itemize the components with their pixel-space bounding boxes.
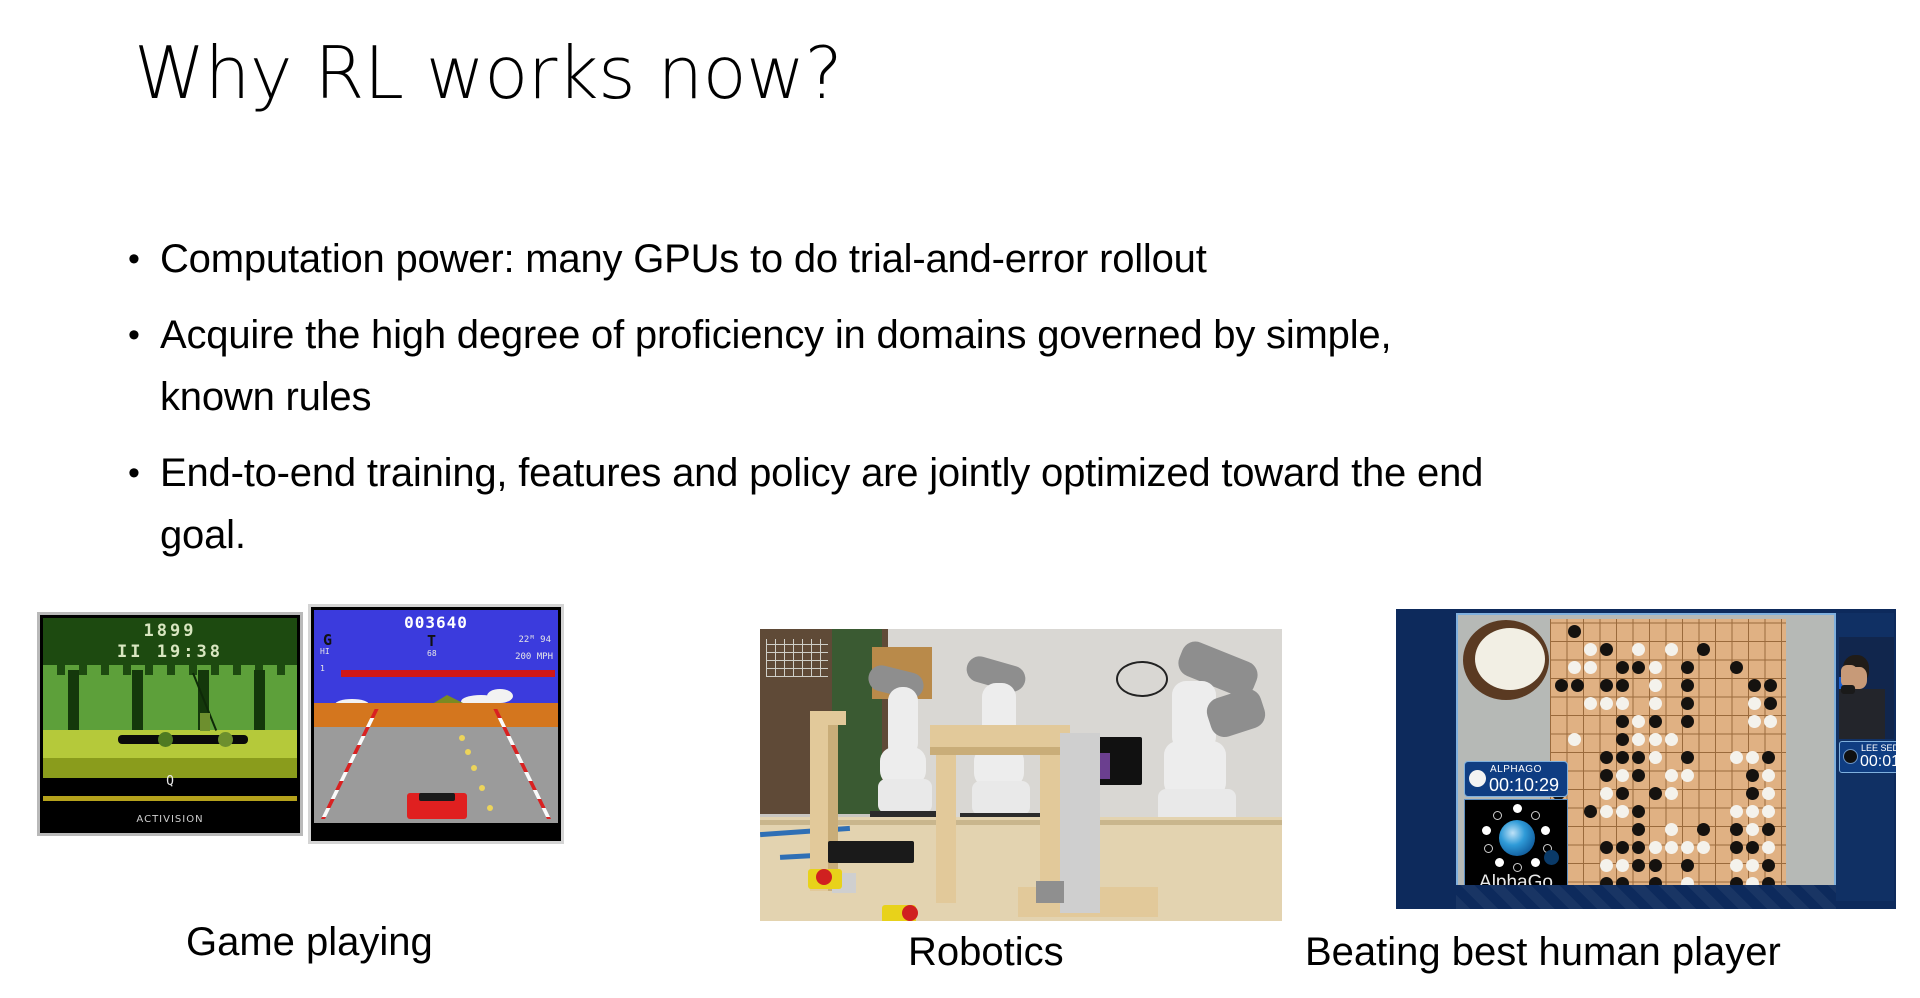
alphago-timer-panel: ALPHAGO 00:10:29	[1464, 761, 1568, 797]
alphago-player-name: ALPHAGO	[1490, 764, 1542, 775]
lee-sedol-camera-feed	[1839, 637, 1894, 739]
caption-robotics: Robotics	[908, 930, 1064, 975]
slide: Why RL works now? • Computation power: m…	[0, 0, 1920, 998]
pitfall-player-sprite	[200, 713, 210, 731]
broadcast-inner-frame: ALPHAGO 00:10:29	[1456, 613, 1836, 901]
pitfall-timer: II 19:38	[40, 642, 300, 662]
racer-speed: 200 MPH	[515, 652, 553, 662]
pitfall-trunk	[254, 670, 265, 732]
lee-sedol-timer-panel: LEE SEDOL 00:01:00	[1839, 741, 1896, 773]
racer-track-marker	[459, 735, 465, 741]
racer-track-marker	[471, 765, 477, 771]
robot-arm-base	[878, 779, 932, 813]
black-stone-indicator-icon	[1843, 749, 1858, 764]
keyboard	[828, 841, 914, 863]
go-stone-bowl	[1463, 620, 1549, 700]
metal-bracket	[1036, 881, 1064, 903]
racer-lap-label: 1	[320, 664, 325, 673]
wall-grid-panel	[766, 639, 828, 677]
racer-distance: 22ᴹ 94	[518, 635, 551, 645]
figure-strip: 1899 II 19:38 Q ACTIVISION 003640 G	[0, 0, 1920, 998]
racer-track-marker	[479, 785, 485, 791]
go-white-stones	[1475, 628, 1545, 690]
pitfall-hud-bar	[43, 796, 297, 801]
racer-mid-label: T	[427, 632, 436, 650]
racer-car-cockpit	[419, 793, 455, 801]
racer-mid-value: 68	[427, 649, 437, 658]
caption-beating-human: Beating best human player	[1305, 930, 1781, 975]
robot-arm-base	[972, 781, 1030, 815]
lee-sedol-hand	[1841, 665, 1857, 687]
robot-cable	[1116, 661, 1168, 697]
alphago-broadcast-screenshot: ALPHAGO 00:10:29	[1396, 609, 1896, 909]
lee-sedol-suit	[1839, 689, 1885, 739]
alphago-logo-eye	[1499, 820, 1535, 856]
alphago-logo-eye-core	[1544, 850, 1559, 865]
atari-racing-screenshot: 003640 G HI 1 T 68 22ᴹ 94 200 MPH	[308, 604, 564, 844]
pitfall-trunk	[132, 670, 143, 732]
activision-logo: ACTIVISION	[40, 814, 300, 825]
racer-track-marker	[465, 749, 471, 755]
emergency-stop-red	[816, 869, 832, 885]
white-panel	[1060, 733, 1100, 913]
racer-horizon-bar	[341, 670, 555, 677]
broadcast-lower-pattern	[1456, 885, 1836, 909]
atari-pitfall-screenshot: 1899 II 19:38 Q ACTIVISION	[37, 612, 303, 836]
pitfall-rolling-log	[158, 732, 173, 747]
pitfall-score: 1899	[40, 621, 300, 641]
wooden-frame-shadow	[930, 747, 1070, 755]
wooden-post	[810, 711, 828, 891]
alphago-clock: 00:10:29	[1489, 775, 1559, 795]
robotics-photo	[760, 629, 1282, 921]
pitfall-trunk	[68, 670, 79, 732]
racer-hills	[314, 703, 558, 729]
wooden-frame-top	[930, 725, 1070, 747]
caption-game-playing: Game playing	[186, 920, 433, 965]
go-board	[1550, 619, 1786, 901]
wooden-post-side	[828, 711, 838, 891]
white-stone-indicator-icon	[1469, 770, 1486, 787]
lee-sedol-clock: 00:01:00	[1860, 753, 1896, 771]
workbench-edge	[760, 820, 1282, 825]
pitfall-lives: Q	[40, 774, 300, 789]
pitfall-rolling-log	[218, 732, 233, 747]
lee-sedol-watch	[1841, 685, 1855, 694]
racer-hi-label: HI	[320, 647, 330, 656]
racer-score: 003640	[311, 613, 561, 632]
racer-cloud	[487, 689, 513, 703]
emergency-stop-red	[902, 905, 918, 921]
wooden-post-top	[810, 711, 846, 725]
lee-sedol-player-name: LEE SEDOL	[1861, 743, 1896, 753]
racer-track-marker	[487, 805, 493, 811]
